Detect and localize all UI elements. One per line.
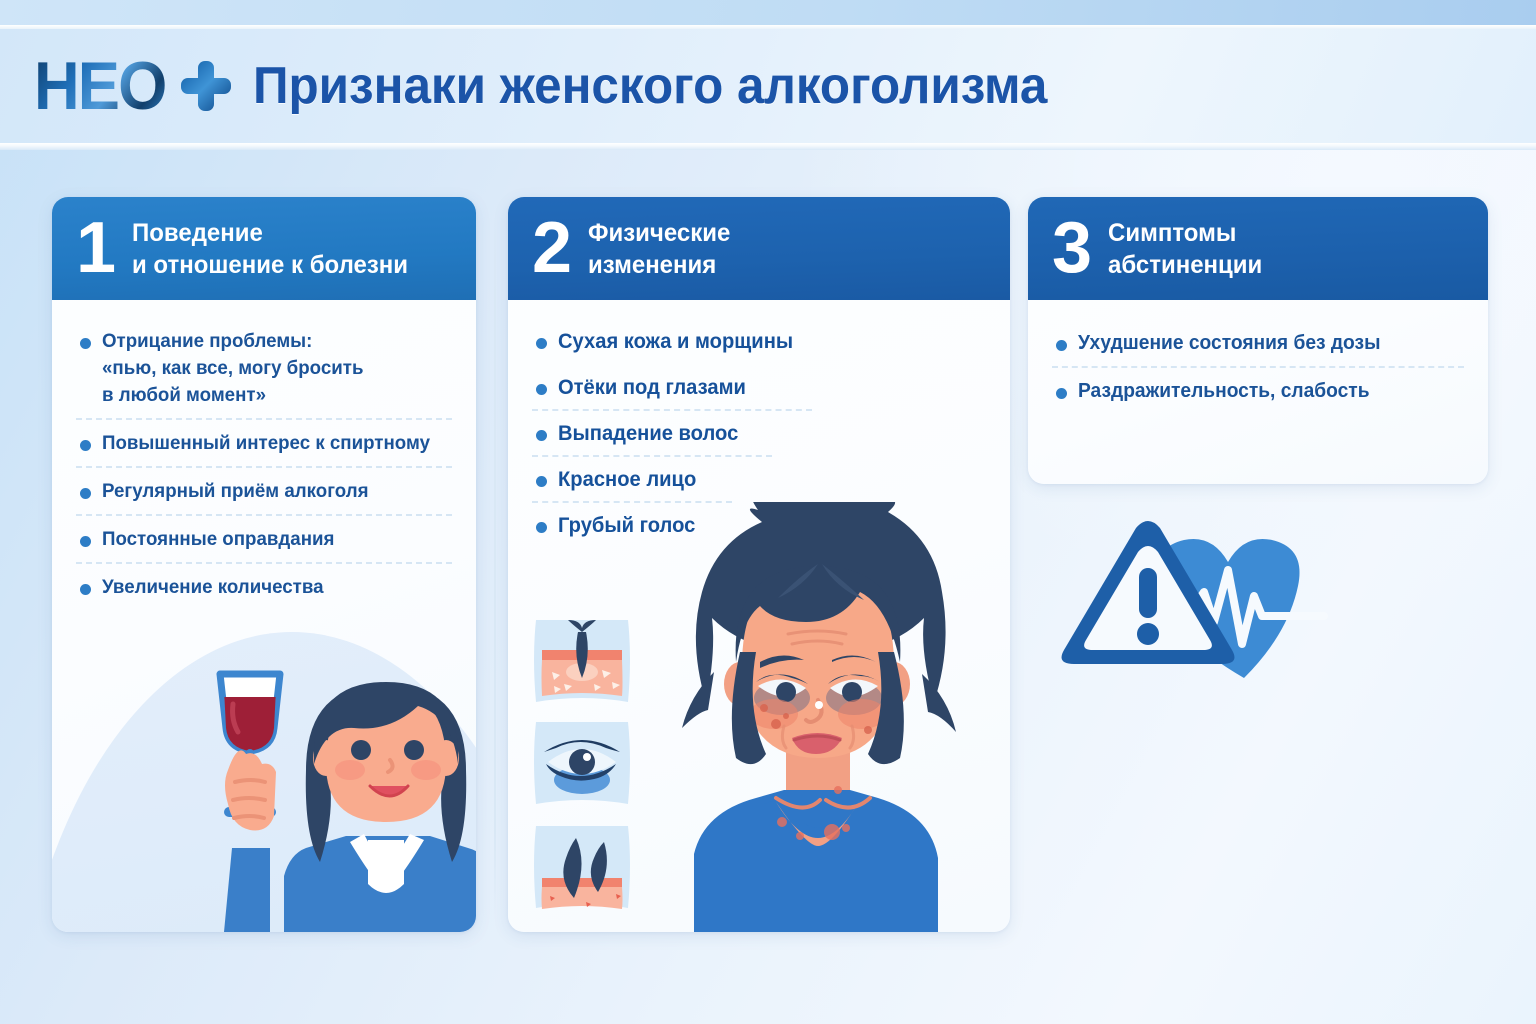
list-item-line2: «пью, как все, могу бросить <box>102 355 442 382</box>
bullet-dot <box>80 338 91 349</box>
bullet-dot <box>80 488 91 499</box>
symptom-list: Отрицание проблемы: «пью, как все, могу … <box>52 300 476 601</box>
list-item-line3: в любой момент» <box>102 382 442 409</box>
list-item: Регулярный приём алкоголя <box>72 478 456 505</box>
list-item-label: Отёки под глазами <box>558 374 973 401</box>
card-title-line1: Поведение <box>132 219 263 247</box>
bullet-dot <box>536 338 547 349</box>
list-item-label: Повышенный интерес к спиртному <box>102 430 442 457</box>
list-item: Грубый голос <box>528 512 990 539</box>
symptom-list: Сухая кожа и морщины Отёки под глазами В… <box>508 300 1010 539</box>
puffy-eye-icon <box>534 722 630 804</box>
card-physical-changes: 2 Физические изменения Сухая кожа и морщ… <box>508 197 1010 932</box>
list-item-label: Сухая кожа и морщины <box>558 328 973 355</box>
eye-left <box>351 740 371 760</box>
card-number: 2 <box>532 213 570 283</box>
list-separator <box>76 514 452 516</box>
list-item: Выпадение волос <box>528 420 990 447</box>
card-title-line1: Физические <box>588 219 730 247</box>
list-item-label: Выпадение волос <box>558 420 973 447</box>
card-behavior: 1 Поведение и отношение к болезни Отрица… <box>52 197 476 932</box>
symptom-icon-panels <box>530 614 634 914</box>
card-title-line2: и отношение к болезни <box>132 249 408 281</box>
woman-with-wine-glass-illustration <box>202 652 476 932</box>
list-item: Отёки под глазами <box>528 374 990 401</box>
list-item: Постоянные оправдания <box>72 526 456 553</box>
list-separator <box>76 418 452 420</box>
eye-right <box>404 740 424 760</box>
brand-logo: НЕО <box>34 55 231 117</box>
bullet-dot <box>536 384 547 395</box>
card-title: Физические изменения <box>588 217 730 281</box>
list-item: Отрицание проблемы: «пью, как все, могу … <box>72 328 456 409</box>
infographic-poster: НЕО Признаки женского алкоголизма 1 Пове… <box>0 0 1536 1024</box>
page-header: НЕО Признаки женского алкоголизма <box>0 29 1536 143</box>
list-item: Сухая кожа и морщины <box>528 328 990 355</box>
card-title-line2: абстиненции <box>1108 249 1262 281</box>
skin-pore-icon <box>534 620 630 702</box>
card-header: 1 Поведение и отношение к болезни <box>52 197 476 300</box>
list-separator <box>532 409 812 411</box>
list-item-label: Постоянные оправдания <box>102 526 442 553</box>
bullet-dot <box>80 536 91 547</box>
list-item: Увеличение количества <box>72 574 456 601</box>
bullet-dot <box>80 584 91 595</box>
bullet-dot <box>1056 388 1067 399</box>
tired-woman-illustration <box>636 502 996 932</box>
card-number: 1 <box>76 213 114 283</box>
card-title: Симптомы абстиненции <box>1108 217 1262 281</box>
card-title-line2: изменения <box>588 249 730 281</box>
card-number: 3 <box>1052 213 1090 283</box>
top-accent-band <box>0 0 1536 26</box>
list-separator <box>532 501 732 503</box>
card-header: 3 Симптомы абстиненции <box>1028 197 1488 300</box>
page-title: Признаки женского алкоголизма <box>253 58 1047 114</box>
bullet-dot <box>536 476 547 487</box>
eye-left <box>776 682 796 702</box>
list-item-label: Раздражительность, слабость <box>1078 378 1452 405</box>
bullet-dot <box>536 430 547 441</box>
list-item-label: Отрицание проблемы: «пью, как все, могу … <box>102 328 442 409</box>
eye-right <box>842 682 862 702</box>
list-item: Ухудшение состояния без дозы <box>1048 330 1468 357</box>
card-title: Поведение и отношение к болезни <box>132 217 408 281</box>
list-separator <box>532 455 772 457</box>
card-header: 2 Физические изменения <box>508 197 1010 300</box>
list-item: Раздражительность, слабость <box>1048 378 1468 405</box>
bullet-dot <box>80 440 91 451</box>
symptom-list: Ухудшение состояния без дозы Раздражител… <box>1028 300 1488 405</box>
list-separator <box>1052 366 1464 368</box>
bullet-dot <box>536 522 547 533</box>
list-item-label: Ухудшение состояния без дозы <box>1078 330 1452 357</box>
list-separator <box>76 466 452 468</box>
card-withdrawal-symptoms: 3 Симптомы абстиненции Ухудшение состоян… <box>1028 197 1488 484</box>
list-item-label: Грубый голос <box>558 512 973 539</box>
brand-logo-text: НЕО <box>34 55 165 117</box>
list-item: Повышенный интерес к спиртному <box>72 430 456 457</box>
column-divider <box>494 215 496 915</box>
card-title-line1: Симптомы <box>1108 219 1236 247</box>
header-bottom-rule <box>0 143 1536 150</box>
warning-heartbeat-illustration <box>1048 512 1348 692</box>
hair-loss-icon <box>534 826 630 909</box>
bullet-dot <box>1056 340 1067 351</box>
list-item-line1: Отрицание проблемы: <box>102 330 312 352</box>
list-item-label: Увеличение количества <box>102 574 442 601</box>
list-separator <box>76 562 452 564</box>
list-item-label: Регулярный приём алкоголя <box>102 478 442 505</box>
list-item-label: Красное лицо <box>558 466 973 493</box>
plus-icon <box>181 61 231 111</box>
list-item: Красное лицо <box>528 466 990 493</box>
